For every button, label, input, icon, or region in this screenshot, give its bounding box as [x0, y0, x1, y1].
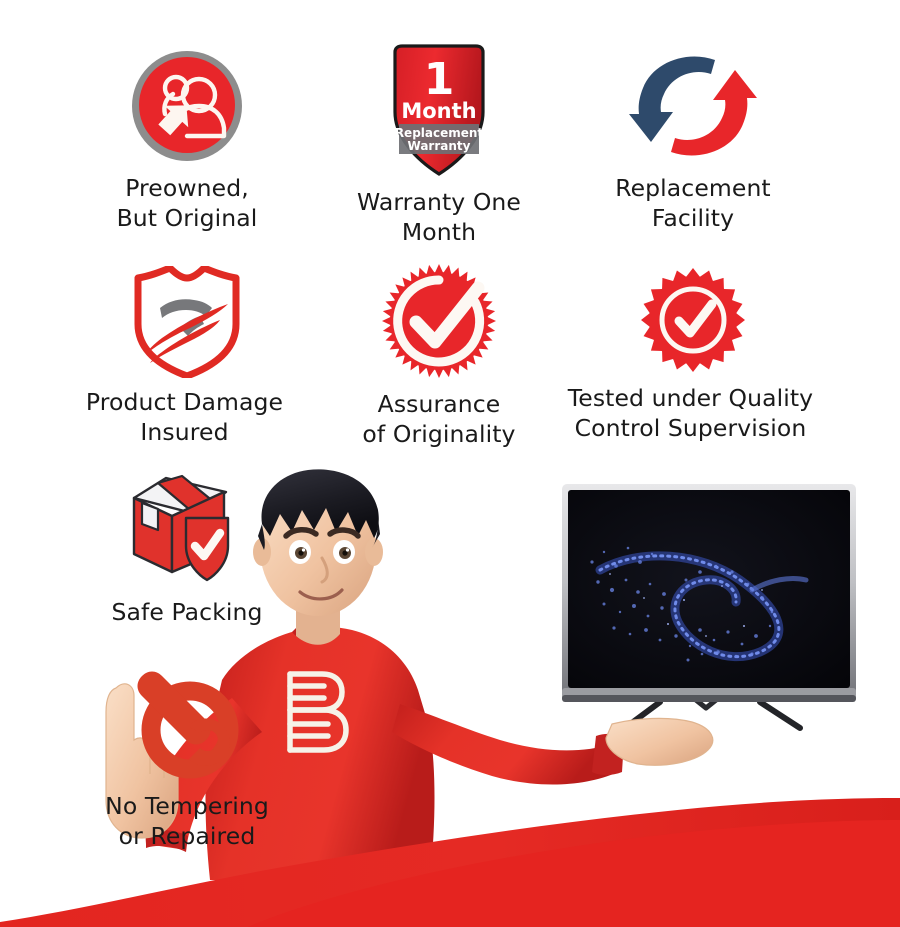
mascot-support-hand	[606, 718, 713, 765]
starburst-check-outline-icon	[380, 262, 498, 380]
feature-no-tempering: No Tempering or Repaired	[42, 664, 332, 851]
feature-product-damage: Product Damage Insured	[42, 266, 332, 447]
preowned-users-icon	[129, 48, 245, 164]
starburst-check-solid-icon	[639, 266, 747, 374]
svg-text:Warranty: Warranty	[408, 139, 471, 153]
warranty-number: 1	[424, 54, 455, 105]
feature-label: Replacement Facility	[615, 174, 771, 233]
feature-label: No Tempering or Repaired	[105, 792, 269, 851]
feature-label: Safe Packing	[111, 598, 262, 628]
svg-text:Month: Month	[401, 99, 476, 123]
box-shield-check-icon	[124, 472, 250, 588]
feature-label: Product Damage Insured	[35, 388, 335, 447]
warranty-shield-badge-icon: 1 Month Replacement Warranty	[381, 42, 497, 178]
promo-feature-poster: Preowned, But Original 1 Month	[0, 0, 900, 927]
feature-label: Tested under Quality Control Supervision	[541, 384, 841, 443]
feature-replacement: Replacement Facility	[548, 48, 838, 233]
mascot-support-arm	[392, 704, 618, 785]
tv-group	[562, 484, 856, 728]
no-wrench-circle-icon	[128, 664, 246, 782]
feature-label: Preowned, But Original	[117, 174, 258, 233]
damaged-shield-icon	[128, 266, 246, 378]
feature-safe-packing: Safe Packing	[42, 472, 332, 628]
feature-label: Warranty One Month	[357, 188, 521, 247]
feature-preowned: Preowned, But Original	[42, 48, 332, 233]
feature-warranty: 1 Month Replacement Warranty Warranty On…	[294, 42, 584, 247]
replacement-arrows-icon	[629, 48, 757, 164]
particle-swirl	[590, 547, 806, 662]
feature-quality-control: Tested under Quality Control Supervision	[548, 266, 838, 443]
svg-text:Replacement: Replacement	[395, 126, 484, 140]
feature-label: Assurance of Originality	[362, 390, 515, 449]
